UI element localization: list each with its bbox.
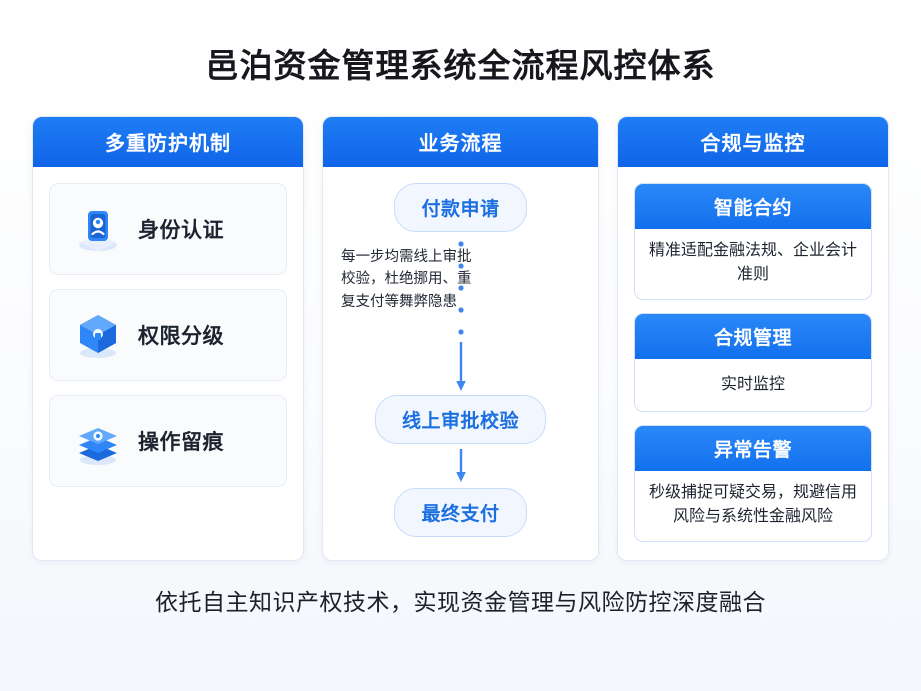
feature-card-permission-grading[interactable]: 权限分级 xyxy=(49,289,287,381)
compliance-card-body: 实时监控 xyxy=(635,359,871,411)
feature-label: 权限分级 xyxy=(138,320,224,350)
compliance-card-body: 秒级捕捉可疑交易，规避信用风险与系统性金融风险 xyxy=(635,471,871,541)
flow-node-payment-request[interactable]: 付款申请 xyxy=(394,183,526,232)
column-process: 业务流程 付款申请 每一步均需线上审批校验，杜绝挪用、重复支付等舞弊隐患 xyxy=(322,116,599,561)
flow-node-final-payment[interactable]: 最终支付 xyxy=(394,488,526,537)
feature-card-operation-trace[interactable]: 操作留痕 xyxy=(49,395,287,487)
compliance-card-compliance-management[interactable]: 合规管理 实时监控 xyxy=(634,313,872,412)
compliance-card-body: 精准适配金融法规、企业会计准则 xyxy=(635,229,871,299)
column-compliance-header: 合规与监控 xyxy=(618,117,888,167)
column-compliance: 合规与监控 智能合约 精准适配金融法规、企业会计准则 合规管理 实时监控 异常告… xyxy=(617,116,889,561)
page-title: 邑泊资金管理系统全流程风控体系 xyxy=(0,0,921,86)
feature-label: 身份认证 xyxy=(138,214,224,244)
column-compliance-body: 智能合约 精准适配金融法规、企业会计准则 合规管理 实时监控 异常告警 秒级捕捉… xyxy=(618,167,888,560)
columns-container: 多重防护机制 身份认证 xyxy=(0,116,921,561)
compliance-card-anomaly-alert[interactable]: 异常告警 秒级捕捉可疑交易，规避信用风险与系统性金融风险 xyxy=(634,425,872,542)
compliance-card-title: 异常告警 xyxy=(635,426,871,471)
column-process-header: 业务流程 xyxy=(323,117,598,167)
feature-card-id-authentication[interactable]: 身份认证 xyxy=(49,183,287,275)
slide-root: 邑泊资金管理系统全流程风控体系 多重防护机制 xyxy=(0,0,921,691)
permission-grading-icon xyxy=(72,309,124,361)
compliance-card-smart-contract[interactable]: 智能合约 精准适配金融法规、企业会计准则 xyxy=(634,183,872,300)
column-process-body: 付款申请 每一步均需线上审批校验，杜绝挪用、重复支付等舞弊隐患 xyxy=(323,167,598,560)
process-flow: 付款申请 每一步均需线上审批校验，杜绝挪用、重复支付等舞弊隐患 xyxy=(339,183,582,542)
compliance-card-title: 智能合约 xyxy=(635,184,871,229)
column-protection-header: 多重防护机制 xyxy=(33,117,303,167)
compliance-card-title: 合规管理 xyxy=(635,314,871,359)
operation-trace-icon xyxy=(72,415,124,467)
footer-caption: 依托自主知识产权技术，实现资金管理与风险防控深度融合 xyxy=(0,583,921,617)
flow-middle-section: 每一步均需线上审批校验，杜绝挪用、重复支付等舞弊隐患 xyxy=(339,238,582,393)
feature-label: 操作留痕 xyxy=(138,426,224,456)
column-protection: 多重防护机制 身份认证 xyxy=(32,116,304,561)
flow-dotted-connector xyxy=(454,238,468,393)
id-authentication-icon xyxy=(72,203,124,255)
column-protection-body: 身份认证 权限分级 xyxy=(33,167,303,560)
flow-node-online-approval[interactable]: 线上审批校验 xyxy=(375,395,546,444)
flow-arrow-down-icon xyxy=(454,449,468,483)
